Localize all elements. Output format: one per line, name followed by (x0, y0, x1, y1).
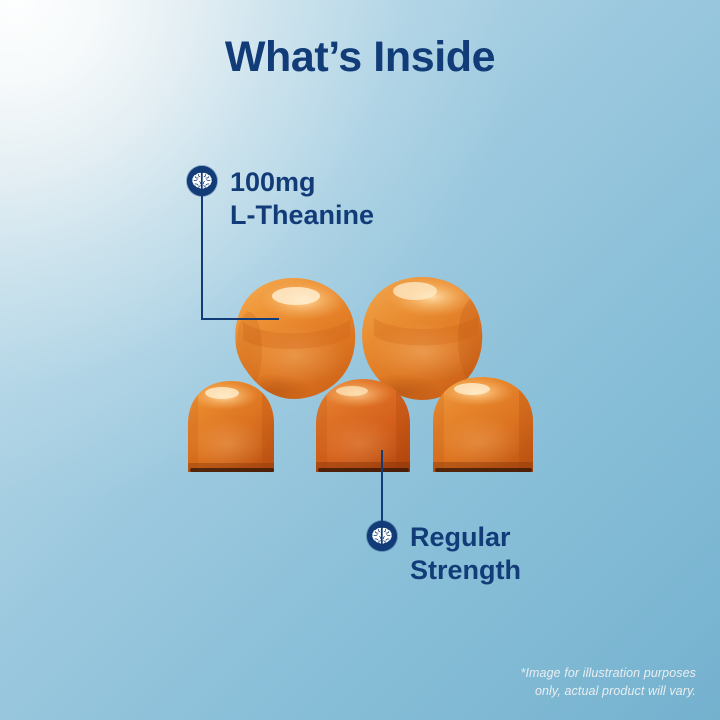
callout-regular-strength-line1: Regular (410, 521, 521, 554)
leader-line-vertical-bottom (381, 450, 383, 528)
disclaimer-line1: *Image for illustration purposes (520, 664, 696, 682)
disclaimer-line2: only, actual product will vary. (520, 682, 696, 700)
callout-regular-strength-text: Regular Strength (410, 521, 521, 587)
disclaimer: *Image for illustration purposes only, a… (520, 664, 696, 700)
product-infographic: What’s Inside (0, 0, 720, 720)
callout-l-theanine-line2: L-Theanine (230, 199, 374, 232)
gummy-top-left (232, 278, 355, 410)
callout-regular-strength-line2: Strength (410, 554, 521, 587)
gummy-bottom-middle (316, 379, 412, 472)
gummy-stack-image (0, 0, 720, 720)
page-title: What’s Inside (0, 34, 720, 81)
callout-l-theanine-line1: 100mg (230, 166, 374, 199)
gummy-bottom-right (433, 377, 535, 472)
leader-line-horizontal-top (201, 318, 279, 320)
gummy-bottom-left (188, 381, 278, 472)
callout-l-theanine-text: 100mg L-Theanine (230, 166, 374, 232)
brain-icon (367, 521, 397, 551)
gummy-top-right (360, 277, 490, 410)
brain-icon (187, 166, 217, 196)
leader-line-vertical-top (201, 196, 203, 320)
